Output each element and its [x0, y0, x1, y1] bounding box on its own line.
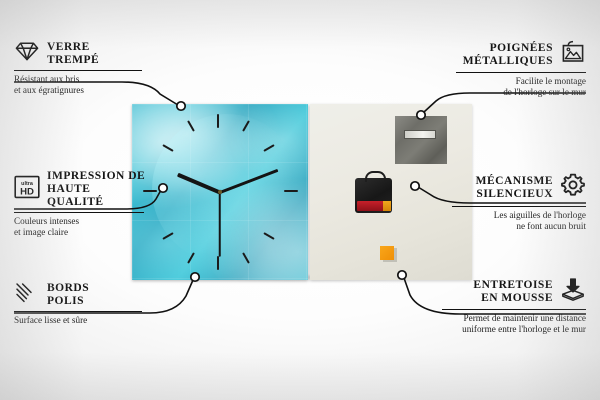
feature-verre-trempe: VERRE TREMPÉ Résistant aux bris et aux é…: [14, 40, 144, 96]
feature-description: Permet de maintenir une distance uniform…: [442, 313, 586, 335]
gear-icon: [560, 172, 586, 203]
feature-title-line1: MÉCANISME: [476, 175, 553, 187]
feature-title-line2: MÉTALLIQUES: [463, 55, 553, 67]
feature-title-line1: IMPRESSION DE: [47, 170, 145, 182]
svg-text:HD: HD: [20, 186, 34, 197]
ultra-hd-icon: ultra HD: [14, 175, 40, 204]
feature-desc-line1: Les aiguilles de l'horloge: [494, 210, 586, 220]
polished-edges-icon: [14, 281, 40, 308]
feature-desc-line1: Couleurs intenses: [14, 216, 79, 226]
feature-divider: [456, 72, 586, 73]
feature-desc-line2: et image claire: [14, 227, 68, 237]
feature-description: Les aiguilles de l'horloge ne font aucun…: [452, 210, 586, 232]
feature-description: Résistant aux bris et aux égratignures: [14, 74, 144, 96]
feature-title-line2: SILENCIEUX: [476, 188, 553, 200]
connector-node-poignees: [417, 111, 425, 119]
feature-divider: [442, 309, 586, 310]
feature-title-line2: HAUTE QUALITÉ: [47, 183, 104, 208]
diamond-icon: [14, 40, 40, 67]
feature-desc-line1: Facilite le montage: [516, 76, 586, 86]
feature-desc-line2: de l'horloge sur le mur: [503, 87, 586, 97]
feature-divider: [14, 70, 142, 71]
connector-node-verre-trempe: [177, 102, 185, 110]
feature-desc-line2: uniforme entre l'horloge et le mur: [462, 324, 586, 334]
feature-desc-line2: et aux égratignures: [14, 85, 84, 95]
feature-title-line1: BORDS: [47, 282, 89, 294]
feature-mecanisme-silencieux: MÉCANISME SILENCIEUX Les aiguilles de l'…: [452, 172, 586, 232]
feature-description: Facilite le montage de l'horloge sur le …: [456, 76, 586, 98]
connector-node-impression: [159, 184, 167, 192]
feature-entretoise-en-mousse: ENTRETOISE EN MOUSSE Permet de maintenir…: [442, 277, 586, 335]
feature-poignees-metalliques: POIGNÉES MÉTALLIQUES Facilite le montage…: [456, 40, 586, 98]
feature-impression-haute-qualite: ultra HD IMPRESSION DE HAUTE QUALITÉ Cou…: [14, 170, 146, 238]
feature-divider: [14, 311, 142, 312]
feature-title-line2: POLIS: [47, 295, 84, 307]
feature-title-line1: POIGNÉES: [490, 42, 553, 54]
feature-title-line1: ENTRETOISE: [473, 279, 553, 291]
picture-frame-hook-icon: [560, 40, 586, 69]
feature-title-line1: VERRE: [47, 41, 90, 53]
feature-title-line2: TREMPÉ: [47, 54, 99, 66]
feature-description: Couleurs intenses et image claire: [14, 216, 146, 238]
infographic-canvas: VERRE TREMPÉ Résistant aux bris et aux é…: [0, 0, 600, 400]
foam-spacer-arrow-icon: [560, 277, 586, 306]
feature-title-line2: EN MOUSSE: [481, 292, 553, 304]
connector-node-mecanisme: [411, 182, 419, 190]
connector-node-entretoise: [398, 271, 406, 279]
feature-desc-line1: Permet de maintenir une distance: [464, 313, 586, 323]
feature-divider: [452, 206, 586, 207]
feature-desc-line1: Surface lisse et sûre: [14, 315, 87, 325]
feature-desc-line2: ne font aucun bruit: [516, 221, 586, 231]
feature-bords-polis: BORDS POLIS Surface lisse et sûre: [14, 281, 144, 326]
feature-desc-line1: Résistant aux bris: [14, 74, 79, 84]
feature-description: Surface lisse et sûre: [14, 315, 144, 326]
feature-divider: [14, 212, 144, 213]
connector-node-bords-polis: [191, 273, 199, 281]
